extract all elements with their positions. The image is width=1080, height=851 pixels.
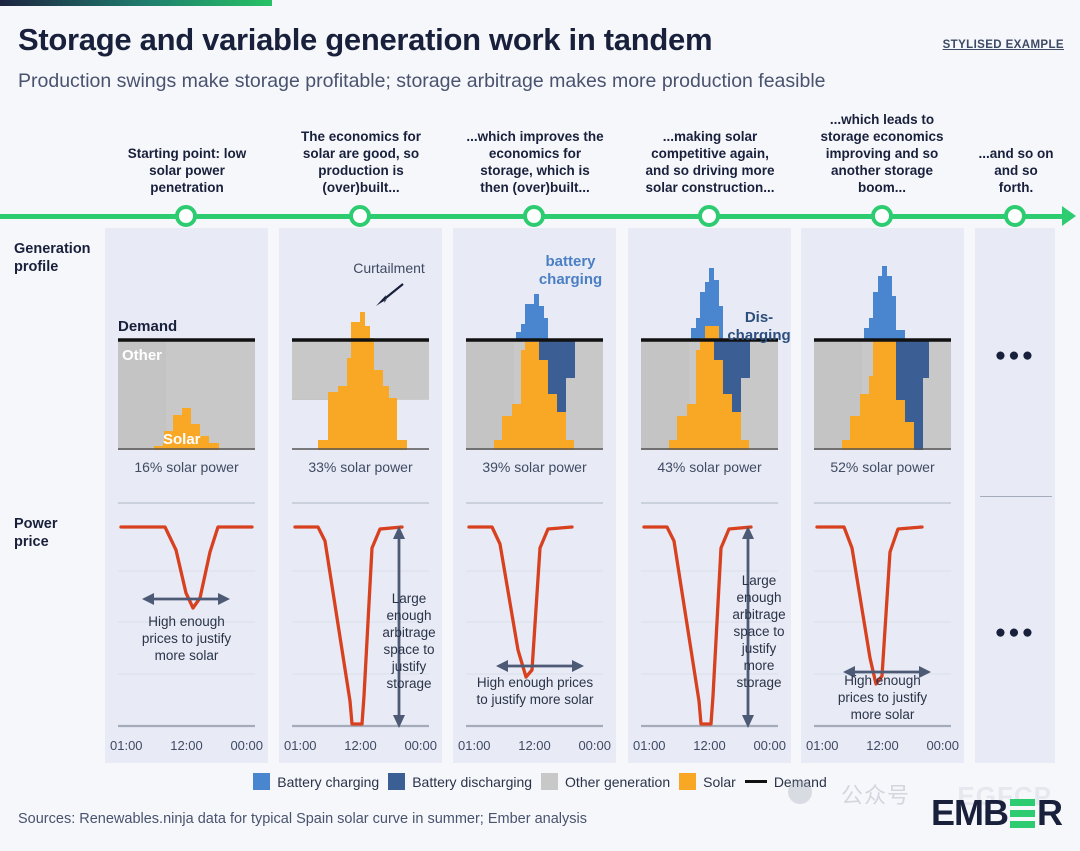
- top-accent-bar: [0, 0, 272, 6]
- demand-line-icon: [745, 780, 767, 784]
- price-annotation-3: High enough prices to justify more solar: [455, 674, 615, 708]
- other-label-1: Other: [122, 347, 162, 364]
- step-caption-4: ...making solar competitive again, and s…: [624, 128, 796, 196]
- generation-chart-5: [814, 266, 951, 450]
- generation-panel-5: [814, 266, 951, 450]
- stylised-example-badge: STYLISED EXAMPLE: [943, 39, 1064, 51]
- legend-label: Solar: [703, 774, 736, 790]
- tick-label: 01:00: [633, 738, 666, 753]
- ember-logo-text-end: R: [1037, 795, 1062, 831]
- wechat-watermark-icon: [788, 780, 812, 804]
- tick-label: 00:00: [926, 738, 959, 753]
- generation-chart-2: [292, 286, 429, 450]
- price-arrow-horizontal-1: [142, 592, 230, 606]
- price-axis-ticks-4: 01:00 12:00 00:00: [633, 738, 786, 753]
- discharging-annotation-4: Dis- charging: [718, 309, 800, 345]
- other-generation-swatch-icon: [541, 773, 558, 790]
- tick-label: 12:00: [866, 738, 899, 753]
- generation-chart-3: [466, 286, 603, 450]
- legend-item-battery-charging: Battery charging: [253, 773, 379, 790]
- generation-chart-4: [641, 266, 778, 450]
- legend-label: Other generation: [565, 774, 670, 790]
- legend-item-other-generation: Other generation: [541, 773, 670, 790]
- legend-item-demand: Demand: [745, 774, 827, 790]
- solar-percent-3: 39% solar power: [453, 459, 616, 475]
- row-label-generation: Generation profile: [14, 240, 104, 276]
- price-annotation-5: High enough prices to justify more solar: [806, 672, 959, 723]
- solar-percent-1: 16% solar power: [105, 459, 268, 475]
- timeline-node-4[interactable]: [698, 205, 720, 227]
- generation-panel-3: [466, 286, 603, 450]
- generation-ellipsis: ●●●: [975, 345, 1055, 367]
- solar-percent-4: 43% solar power: [628, 459, 791, 475]
- generation-panel-4: [641, 266, 778, 450]
- ember-logo: EMB R: [931, 795, 1062, 831]
- tick-label: 00:00: [404, 738, 437, 753]
- price-annotation-2: Large enough arbitrage space to justify …: [379, 590, 439, 692]
- price-annotation-1: High enough prices to justify more solar: [110, 613, 263, 664]
- timeline-node-2[interactable]: [349, 205, 371, 227]
- timeline-node-5[interactable]: [871, 205, 893, 227]
- price-ellipsis: ●●●: [975, 622, 1055, 644]
- tick-label: 01:00: [284, 738, 317, 753]
- price-axis-ticks-3: 01:00 12:00 00:00: [458, 738, 611, 753]
- ember-logo-text: EMB: [931, 795, 1008, 831]
- price-section-divider: [980, 496, 1052, 497]
- price-axis-ticks-1: 01:00 12:00 00:00: [110, 738, 263, 753]
- solar-swatch-icon: [679, 773, 696, 790]
- price-arrow-horizontal-3: [496, 659, 584, 673]
- ember-logo-mark-icon: [1010, 799, 1035, 828]
- solar-percent-2: 33% solar power: [279, 459, 442, 475]
- generation-panel-2: [292, 286, 429, 450]
- solar-percent-5: 52% solar power: [801, 459, 964, 475]
- battery-discharging-swatch-icon: [388, 773, 405, 790]
- tick-label: 00:00: [753, 738, 786, 753]
- tick-label: 01:00: [806, 738, 839, 753]
- demand-label-1: Demand: [118, 318, 177, 335]
- curtailment-arrow-icon: [374, 281, 406, 309]
- price-axis-ticks-5: 01:00 12:00 00:00: [806, 738, 959, 753]
- legend-item-solar: Solar: [679, 773, 736, 790]
- step-caption-6: ...and so on and so forth.: [971, 145, 1061, 196]
- step-caption-5: ...which leads to storage economics impr…: [798, 111, 966, 196]
- price-axis-ticks-2: 01:00 12:00 00:00: [284, 738, 437, 753]
- solar-label-1: Solar: [163, 431, 201, 448]
- tick-label: 00:00: [578, 738, 611, 753]
- battery-charging-annotation-3: battery charging: [518, 253, 623, 289]
- step-caption-2: The economics for solar are good, so pro…: [277, 128, 445, 196]
- legend-item-battery-discharging: Battery discharging: [388, 773, 532, 790]
- timeline-node-3[interactable]: [523, 205, 545, 227]
- tick-label: 12:00: [518, 738, 551, 753]
- legend-label: Battery discharging: [412, 774, 532, 790]
- tick-label: 12:00: [693, 738, 726, 753]
- curtailment-annotation: Curtailment: [330, 260, 448, 276]
- row-label-price: Power price: [14, 515, 104, 551]
- price-annotation-4: Large enough arbitrage space to justify …: [728, 572, 790, 691]
- watermark-chinese-text: 公众号: [841, 778, 910, 810]
- step-caption-3: ...which improves the economics for stor…: [449, 128, 621, 196]
- timeline-arrowhead: [1062, 206, 1076, 226]
- tick-label: 00:00: [230, 738, 263, 753]
- battery-charging-swatch-icon: [253, 773, 270, 790]
- timeline-node-1[interactable]: [175, 205, 197, 227]
- sources-note: Sources: Renewables.ninja data for typic…: [18, 811, 587, 827]
- page-title: Storage and variable generation work in …: [18, 22, 712, 58]
- tick-label: 01:00: [458, 738, 491, 753]
- legend: Battery charging Battery discharging Oth…: [0, 773, 1080, 790]
- step-caption-1: Starting point: low solar power penetrat…: [103, 145, 271, 196]
- page-subtitle: Production swings make storage profitabl…: [18, 70, 826, 93]
- tick-label: 12:00: [170, 738, 203, 753]
- tick-label: 12:00: [344, 738, 377, 753]
- timeline-node-6[interactable]: [1004, 205, 1026, 227]
- legend-label: Battery charging: [277, 774, 379, 790]
- tick-label: 01:00: [110, 738, 143, 753]
